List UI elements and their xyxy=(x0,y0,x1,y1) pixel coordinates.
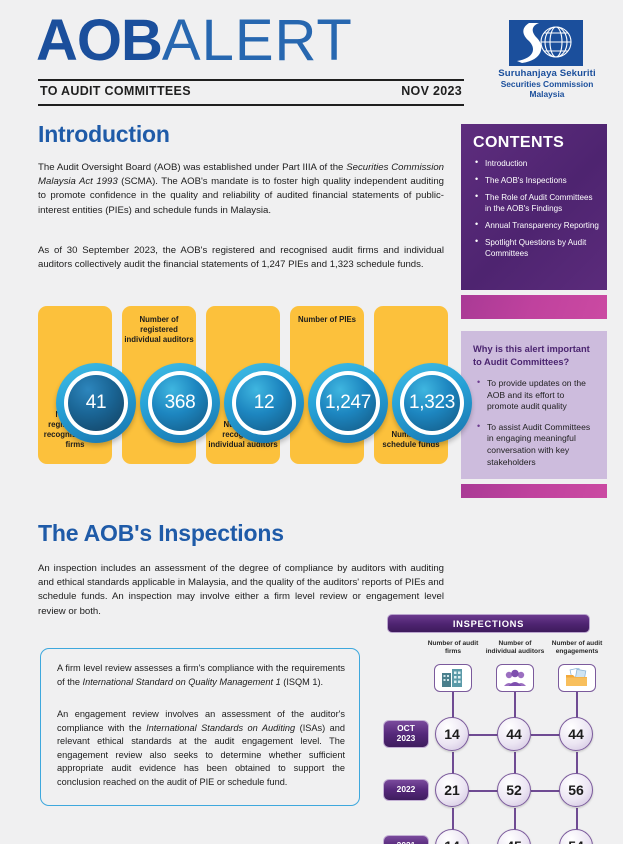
connector-line xyxy=(576,692,577,718)
connector-line xyxy=(452,808,453,830)
cell-value: 44 xyxy=(559,717,593,751)
stat-bubble-pies: 1,247 xyxy=(308,363,388,443)
bubble-inner: 12 xyxy=(236,375,292,431)
inspections-banner: INSPECTIONS xyxy=(387,614,590,633)
why-important-box: Why is this alert important to Audit Com… xyxy=(461,331,607,479)
cell-number: 56 xyxy=(568,782,584,798)
cell-value: 44 xyxy=(497,717,531,751)
contents-item[interactable]: The Role of Audit Committees in the AOB'… xyxy=(475,192,599,215)
connector-line xyxy=(531,790,561,791)
connector-line xyxy=(452,692,453,718)
logo-name-malay: Suruhanjaya Sekuriti xyxy=(487,68,607,79)
title-aob: AOB xyxy=(36,8,162,73)
logo-country: Malaysia xyxy=(487,89,607,99)
firm-review-italic: International Standard on Quality Manage… xyxy=(83,677,281,687)
stat-bubble-schedule-funds: 1,323 xyxy=(392,363,472,443)
stat-value: 1,247 xyxy=(325,392,371,414)
stat-value: 1,323 xyxy=(409,392,455,414)
header-rule-top xyxy=(38,79,464,81)
stat-value: 368 xyxy=(165,392,196,414)
contents-panel: CONTENTS Introduction The AOB's Inspecti… xyxy=(461,124,607,290)
cell-number: 52 xyxy=(506,782,522,798)
magenta-divider-bar-top xyxy=(461,295,607,319)
header-date: NOV 2023 xyxy=(0,84,462,98)
contents-heading: CONTENTS xyxy=(473,134,607,152)
intro-p1-part-a: The Audit Oversight Board (AOB) was esta… xyxy=(38,162,346,173)
stat-label: Number of registered individual auditors xyxy=(124,315,194,345)
stat-label: Number of PIEs xyxy=(292,315,362,325)
connector-line xyxy=(514,752,515,774)
statistics-infographic: Number of registered and recognised audi… xyxy=(38,306,448,500)
people-group-glyph-icon xyxy=(503,669,527,688)
engagement-review-italic: International Standards on Auditing xyxy=(146,723,295,733)
inspections-paragraph: An inspection includes an assessment of … xyxy=(38,562,444,619)
cell-value: 54 xyxy=(559,829,593,844)
cell-value: 56 xyxy=(559,773,593,807)
why-important-item: To provide updates on the AOB and its ef… xyxy=(477,378,597,413)
page-title: AOBALERT xyxy=(36,10,353,72)
firm-level-review-callout-box: A firm level review assesses a firm's co… xyxy=(40,648,360,806)
people-group-icon xyxy=(496,664,534,692)
column-header-audit-firms: Number of audit firms xyxy=(422,640,484,657)
why-important-heading: Why is this alert important to Audit Com… xyxy=(473,343,595,368)
folder-documents-glyph-icon xyxy=(564,668,590,688)
cell-value: 14 xyxy=(435,717,469,751)
bubble-inner: 41 xyxy=(68,375,124,431)
connector-line xyxy=(469,790,499,791)
year-line-1: 2022 xyxy=(397,785,416,795)
page-header: AOBALERT TO AUDIT COMMITTEES NOV 2023 Su… xyxy=(0,0,623,112)
stat-value: 12 xyxy=(254,392,275,414)
stat-value: 41 xyxy=(86,392,107,414)
connector-line xyxy=(531,734,561,735)
cell-number: 44 xyxy=(506,726,522,742)
engagement-review-paragraph: An engagement review involves an assessm… xyxy=(57,708,345,790)
stat-bubble-recognised-individual-auditors: 12 xyxy=(224,363,304,443)
office-buildings-icon xyxy=(434,664,472,692)
connector-line xyxy=(576,752,577,774)
securities-commission-logo: Suruhanjaya Sekuriti Securities Commissi… xyxy=(487,20,607,100)
cell-number: 14 xyxy=(444,838,460,844)
stat-bubble-registered-individual-auditors: 368 xyxy=(140,363,220,443)
introduction-paragraph-1: The Audit Oversight Board (AOB) was esta… xyxy=(38,161,444,218)
cell-value: 52 xyxy=(497,773,531,807)
office-buildings-glyph-icon xyxy=(440,668,466,688)
cell-value: 14 xyxy=(435,829,469,844)
bubble-inner: 1,323 xyxy=(404,375,460,431)
connector-line xyxy=(469,734,499,735)
globe-curve-logo-icon xyxy=(509,20,583,66)
inspections-statistics-table: INSPECTIONS Number of audit firms Number… xyxy=(381,614,613,840)
logo-artwork-icon xyxy=(509,20,583,66)
logo-name-english: Securities Commission xyxy=(487,79,607,89)
cell-number: 14 xyxy=(444,726,460,742)
connector-line xyxy=(576,808,577,830)
cell-number: 44 xyxy=(568,726,584,742)
introduction-paragraph-2: As of 30 September 2023, the AOB's regis… xyxy=(38,244,444,272)
contents-item[interactable]: Introduction xyxy=(475,158,599,169)
row-year-label-2022: 2022 xyxy=(383,779,429,801)
bubble-inner: 1,247 xyxy=(320,375,376,431)
column-header-audit-engagements: Number of audit engagements xyxy=(546,640,608,657)
cell-value: 21 xyxy=(435,773,469,807)
contents-item[interactable]: Spotlight Questions by Audit Committees xyxy=(475,237,599,260)
year-line-2: 2023 xyxy=(397,734,416,744)
column-header-individual-auditors: Number of individual auditors xyxy=(484,640,546,657)
firm-review-paragraph: A firm level review assesses a firm's co… xyxy=(57,662,345,689)
bubble-inner: 368 xyxy=(152,375,208,431)
contents-item[interactable]: The AOB's Inspections xyxy=(475,175,599,186)
aob-alert-newsletter-page: AOBALERT TO AUDIT COMMITTEES NOV 2023 Su… xyxy=(0,0,623,844)
why-important-item: To assist Audit Committees in engaging m… xyxy=(477,422,597,468)
contents-item[interactable]: Annual Transparency Reporting xyxy=(475,220,599,231)
magenta-divider-bar-bottom xyxy=(461,484,607,498)
connector-line xyxy=(514,808,515,830)
firm-review-part-b: (ISQM 1). xyxy=(281,677,323,687)
introduction-heading: Introduction xyxy=(38,121,170,148)
connector-line xyxy=(514,692,515,718)
cell-number: 45 xyxy=(506,838,522,844)
title-alert: ALERT xyxy=(162,8,353,73)
inspections-heading: The AOB's Inspections xyxy=(38,520,284,547)
cell-number: 54 xyxy=(568,838,584,844)
stat-bubble-audit-firms: 41 xyxy=(56,363,136,443)
row-year-label-2021: 2021 xyxy=(383,835,429,844)
why-important-list: To provide updates on the AOB and its ef… xyxy=(477,378,597,468)
cell-number: 21 xyxy=(444,782,460,798)
header-rule-bottom xyxy=(38,104,464,106)
contents-list: Introduction The AOB's Inspections The R… xyxy=(475,158,599,260)
folder-documents-icon xyxy=(558,664,596,692)
inspections-banner-label: INSPECTIONS xyxy=(453,618,524,629)
connector-line xyxy=(452,752,453,774)
row-year-label-oct-2023: OCT 2023 xyxy=(383,720,429,748)
cell-value: 45 xyxy=(497,829,531,844)
